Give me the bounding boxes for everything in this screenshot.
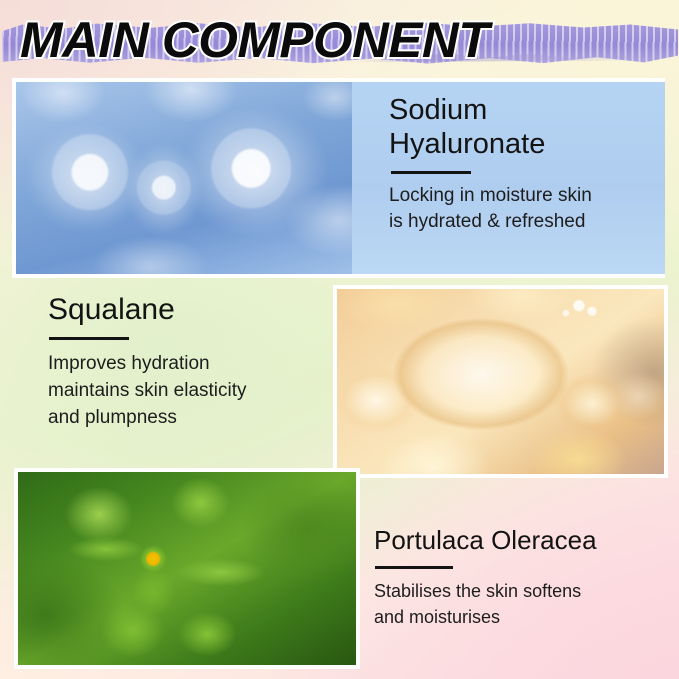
water-bubbles-photo — [12, 78, 352, 278]
ingredient-name-line: Sodium — [389, 93, 659, 127]
ingredient-name-sodium-hyaluronate: Sodium Hyaluronate — [389, 93, 659, 161]
page-title: MAIN COMPONENT — [20, 14, 679, 66]
description-line: and plumpness — [48, 404, 338, 431]
description-line: is hydrated & refreshed — [389, 209, 659, 235]
ingredient-description-squalane: Improves hydration maintains skin elasti… — [48, 350, 338, 431]
main-component-poster: MAIN COMPONENT Sodium Hyaluronate Lockin… — [0, 0, 679, 679]
poster-header: MAIN COMPONENT — [0, 0, 679, 74]
ingredient-description-portulaca-oleracea: Stabilises the skin softens and moisturi… — [374, 578, 666, 630]
description-line: Improves hydration — [48, 350, 338, 377]
ingredient-name-line: Hyaluronate — [389, 127, 659, 161]
description-line: and moisturises — [374, 604, 666, 630]
purslane-plant-photo — [14, 468, 360, 669]
ingredient-name-portulaca-oleracea: Portulaca Oleracea — [374, 524, 666, 556]
ingredient-name-line: Squalane — [48, 292, 338, 328]
ingredient-text-squalane: Squalane Improves hydration maintains sk… — [48, 292, 338, 431]
divider-rule — [391, 171, 471, 174]
description-line: maintains skin elasticity — [48, 377, 338, 404]
ingredient-text-sodium-hyaluronate: Sodium Hyaluronate Locking in moisture s… — [389, 93, 659, 235]
ingredient-name-squalane: Squalane — [48, 292, 338, 328]
description-line: Locking in moisture skin — [389, 183, 659, 209]
divider-rule — [375, 566, 453, 569]
ingredient-text-portulaca-oleracea: Portulaca Oleracea Stabilises the skin s… — [374, 524, 666, 630]
ingredient-name-line: Portulaca Oleracea — [374, 524, 666, 556]
golden-oil-bubbles-photo — [333, 285, 668, 478]
ingredient-description-sodium-hyaluronate: Locking in moisture skin is hydrated & r… — [389, 183, 659, 235]
divider-rule — [49, 337, 129, 340]
description-line: Stabilises the skin softens — [374, 578, 666, 604]
